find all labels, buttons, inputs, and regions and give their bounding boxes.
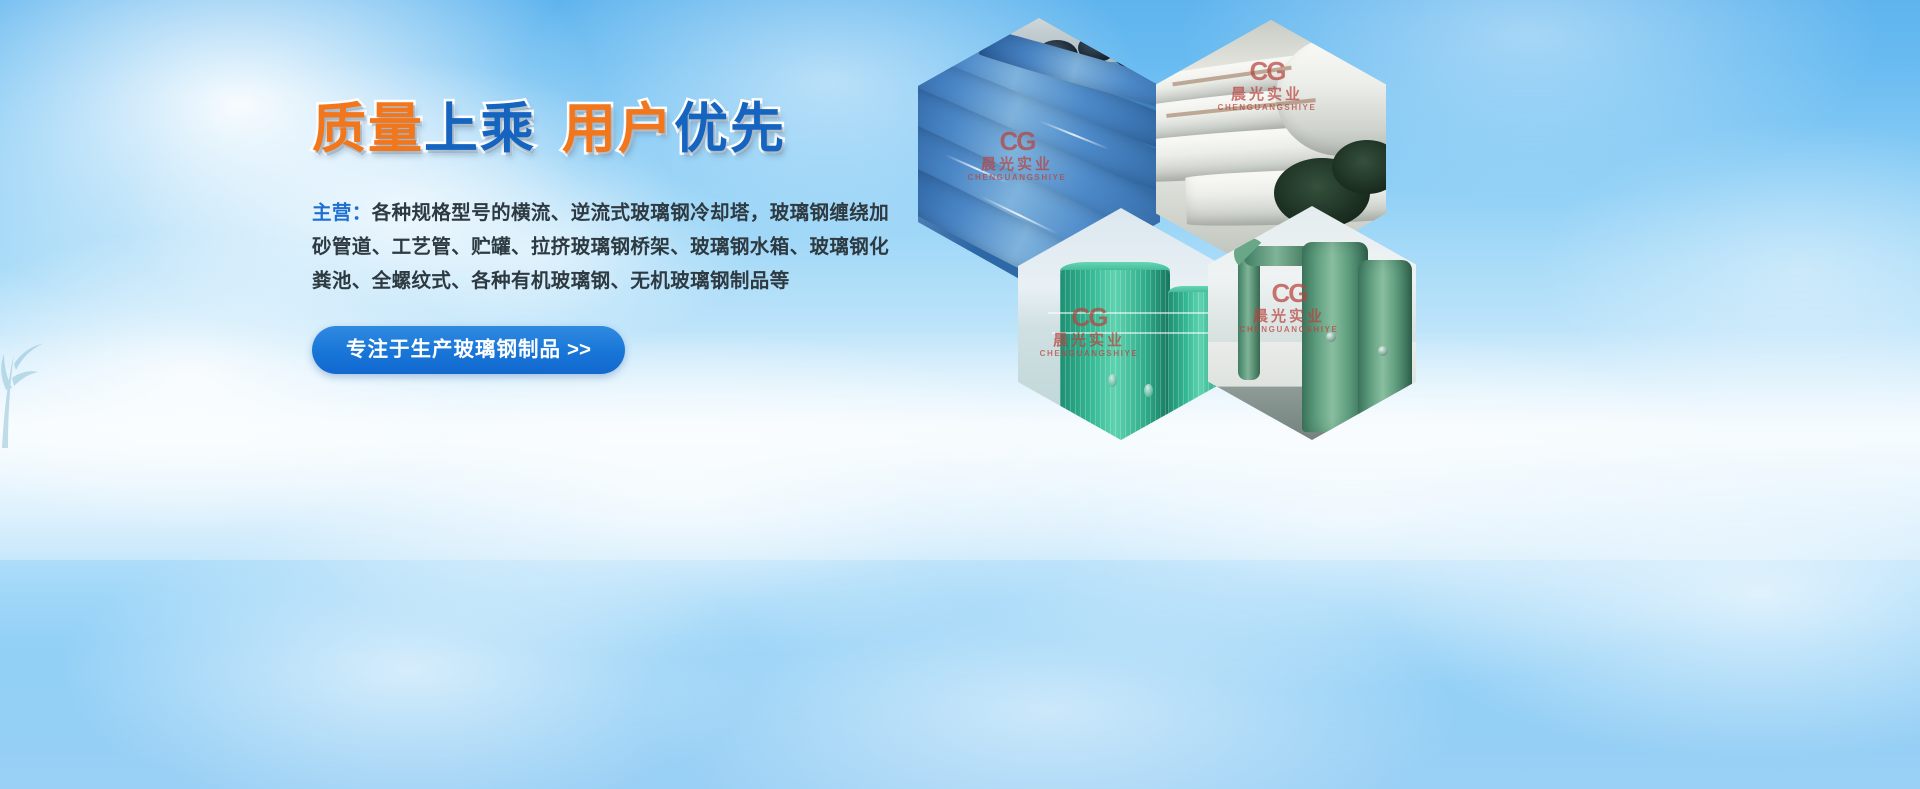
headline-char: 质 [312,96,368,162]
headline-char: 户 [618,96,674,162]
headline: 质量上乘用户优先 [312,96,932,162]
headline-char: 优 [674,96,730,162]
headline-char: 先 [730,96,786,162]
banner-content: 质量上乘用户优先 主营：各种规格型号的横流、逆流式玻璃钢冷却塔，玻璃钢缠绕加砂管… [312,96,932,374]
bottom-haze [0,639,1920,789]
description-body: 各种规格型号的横流、逆流式玻璃钢冷却塔，玻璃钢缠绕加砂管道、工艺管、贮罐、拉挤玻… [312,202,889,292]
cloud-shape [60,520,760,789]
cloud-shape [1380,430,1920,760]
cloud-shape [640,560,1460,789]
headline-char: 用 [562,96,618,162]
headline-char: 量 [368,96,424,162]
cloud-shape [1540,120,1920,420]
cta-label: 专注于生产玻璃钢制品 [346,338,561,361]
hexagon-photo-collage: CG 晨光实业 CHENGUANGSHIYE CG [918,8,1458,408]
palm-leaf-icon [0,330,46,450]
cta-arrow: >> [567,338,591,361]
description-lead: 主营： [312,202,372,224]
cta-button[interactable]: 专注于生产玻璃钢制品>> [312,326,625,374]
headline-char: 上 [424,96,480,162]
headline-char: 乘 [480,96,536,162]
promo-banner: 质量上乘用户优先 主营：各种规格型号的横流、逆流式玻璃钢冷却塔，玻璃钢缠绕加砂管… [0,0,1920,789]
description-text: 主营：各种规格型号的横流、逆流式玻璃钢冷却塔，玻璃钢缠绕加砂管道、工艺管、贮罐、… [312,196,902,298]
